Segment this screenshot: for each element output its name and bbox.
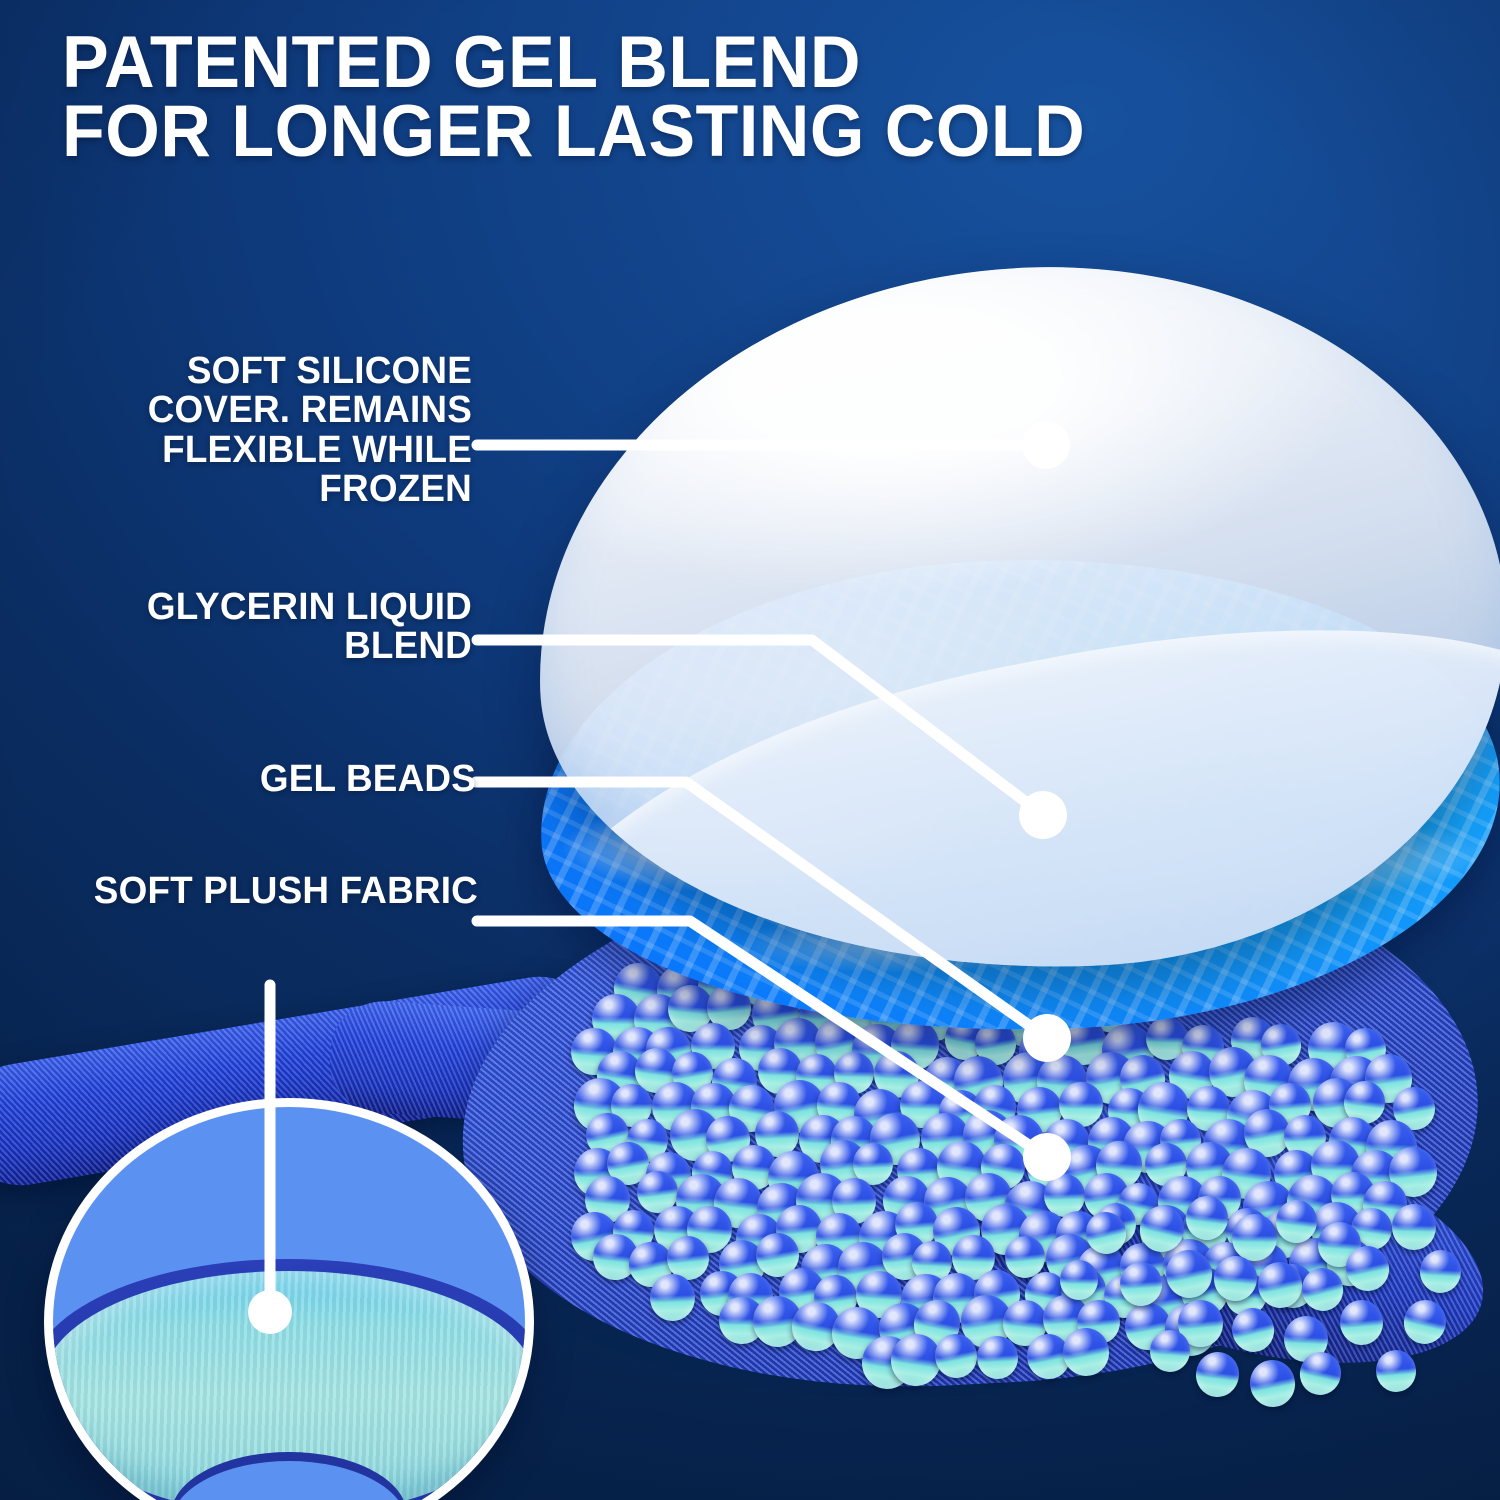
callout-label-soft-plush-fabric: SOFT PLUSH FABRIC bbox=[57, 872, 478, 911]
silicone-cover-layer bbox=[526, 251, 1500, 984]
gel-bead bbox=[1246, 1356, 1299, 1410]
inset-eye-mask bbox=[44, 1259, 534, 1500]
gel-bead bbox=[1059, 1324, 1113, 1380]
callout-label-glycerin-liquid-blend: GLYCERIN LIQUID BLEND bbox=[57, 588, 472, 667]
silicone-cover-fold bbox=[526, 556, 1500, 985]
infographic-canvas: PATENTED GEL BLEND FOR LONGER LASTING CO… bbox=[0, 0, 1500, 1500]
headline-line-2: FOR LONGER LASTING COLD bbox=[62, 97, 1406, 166]
gel-bead bbox=[858, 1332, 917, 1393]
gel-bead bbox=[888, 1331, 945, 1390]
gel-bead bbox=[1193, 1350, 1241, 1400]
headline: PATENTED GEL BLEND FOR LONGER LASTING CO… bbox=[62, 28, 1406, 167]
callout-label-soft-silicone-cover: SOFT SILICONE COVER. REMAINS FLEXIBLE WH… bbox=[57, 352, 472, 509]
gel-bead bbox=[932, 1330, 982, 1381]
gel-bead bbox=[976, 1335, 1019, 1380]
gel-bead bbox=[1023, 1330, 1074, 1382]
callout-label-gel-beads: GEL BEADS bbox=[57, 760, 476, 799]
